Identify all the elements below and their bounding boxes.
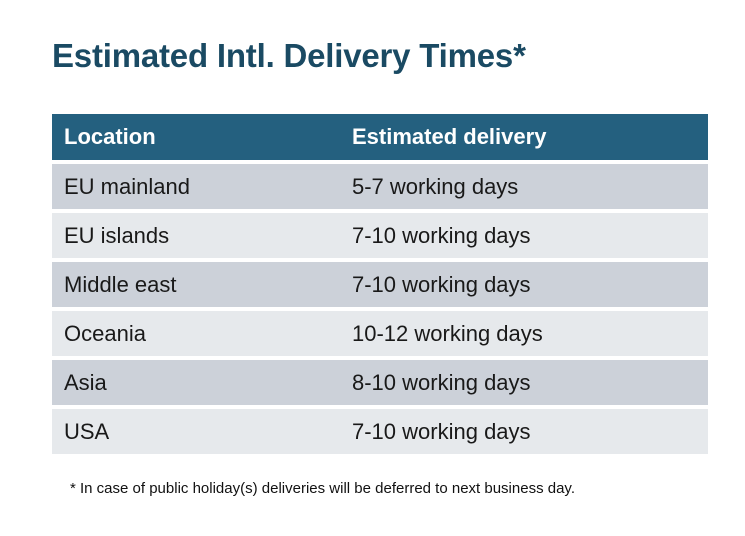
cell-location: Oceania [52, 311, 316, 356]
row-divider [316, 213, 340, 258]
row-divider [316, 311, 340, 356]
table-row: USA 7-10 working days [52, 409, 690, 454]
cell-location: Middle east [52, 262, 316, 307]
row-divider [316, 262, 340, 307]
cell-location: Asia [52, 360, 316, 405]
table-header-row: Location Estimated delivery [52, 114, 690, 160]
table-row: Middle east 7-10 working days [52, 262, 690, 307]
table-row: EU islands 7-10 working days [52, 213, 690, 258]
table-row: Oceania 10-12 working days [52, 311, 690, 356]
cell-estimated-delivery: 7-10 working days [340, 409, 708, 454]
cell-estimated-delivery: 7-10 working days [340, 262, 708, 307]
cell-estimated-delivery: 7-10 working days [340, 213, 708, 258]
cell-location: EU islands [52, 213, 316, 258]
delivery-times-table: Location Estimated delivery EU mainland … [52, 114, 690, 454]
row-divider [316, 360, 340, 405]
column-header-location: Location [52, 114, 316, 160]
footnote: * In case of public holiday(s) deliverie… [70, 479, 575, 499]
cell-location: USA [52, 409, 316, 454]
column-header-estimated-delivery: Estimated delivery [340, 114, 708, 160]
page-title: Estimated Intl. Delivery Times* [52, 36, 526, 76]
row-divider [316, 164, 340, 209]
cell-estimated-delivery: 5-7 working days [340, 164, 708, 209]
table-row: Asia 8-10 working days [52, 360, 690, 405]
cell-estimated-delivery: 10-12 working days [340, 311, 708, 356]
row-divider [316, 409, 340, 454]
cell-location: EU mainland [52, 164, 316, 209]
delivery-times-page: Estimated Intl. Delivery Times* Location… [0, 0, 745, 536]
table-row: EU mainland 5-7 working days [52, 164, 690, 209]
cell-estimated-delivery: 8-10 working days [340, 360, 708, 405]
column-divider [316, 114, 340, 160]
